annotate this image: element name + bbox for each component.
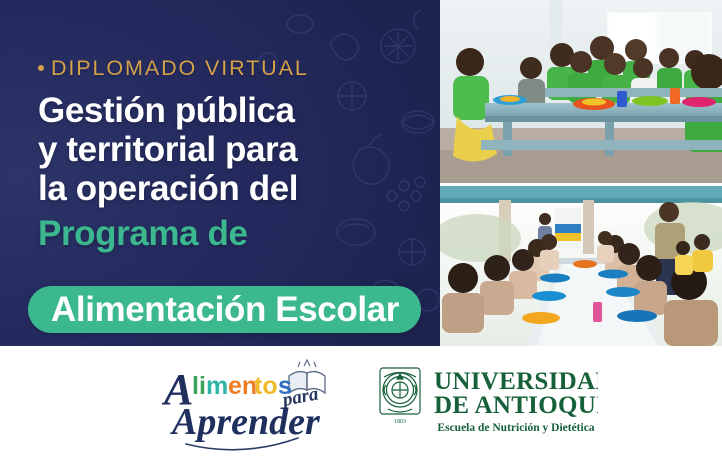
udea-tagline: Escuela de Nutrición y Dietética [437, 422, 594, 434]
svg-text:li: li [192, 372, 206, 400]
photo-collage [437, 0, 722, 346]
svg-text:Aprender: Aprender [170, 401, 321, 443]
hero-text-block: DIPLOMADO VIRTUAL Gestión pública y terr… [38, 58, 438, 253]
footer-logo-bar: A li m en to s para Aprender [0, 346, 722, 463]
udea-line-1: UNIVERSIDAD [434, 368, 598, 395]
hero-section: DIPLOMADO VIRTUAL Gestión pública y terr… [0, 0, 722, 346]
headline-line-2: y territorial para [38, 130, 438, 169]
svg-text:m: m [206, 372, 228, 400]
svg-text:en: en [228, 372, 257, 400]
eyebrow-text: DIPLOMADO VIRTUAL [51, 58, 309, 80]
subtitle-green: Programa de [38, 215, 438, 254]
program-name-pill: Alimentación Escolar [28, 286, 421, 333]
photo-children-green-uniforms-cafeteria [437, 0, 722, 183]
promotional-banner: DIPLOMADO VIRTUAL Gestión pública y terr… [0, 0, 722, 463]
headline-line-3: la operación del [38, 169, 438, 208]
udea-crest-icon [380, 368, 420, 414]
headline-line-1: Gestión pública [38, 91, 438, 130]
udea-seal-year: 1803 [394, 419, 406, 425]
photo-children-long-tables-outdoor [437, 186, 722, 346]
eyebrow-label: DIPLOMADO VIRTUAL [38, 58, 438, 80]
logo-universidad-de-antioquia: 1803 UNIVERSIDAD DE ANTIOQUIA Escuela de… [376, 363, 598, 443]
svg-text:to: to [254, 372, 278, 400]
headline: Gestión pública y territorial para la op… [38, 91, 438, 209]
udea-line-2: DE ANTIOQUIA [434, 392, 598, 419]
bullet-dot-icon [38, 65, 44, 71]
photo-divider [437, 183, 722, 186]
logo-alimentos-para-aprender: A li m en to s para Aprender [158, 354, 343, 452]
